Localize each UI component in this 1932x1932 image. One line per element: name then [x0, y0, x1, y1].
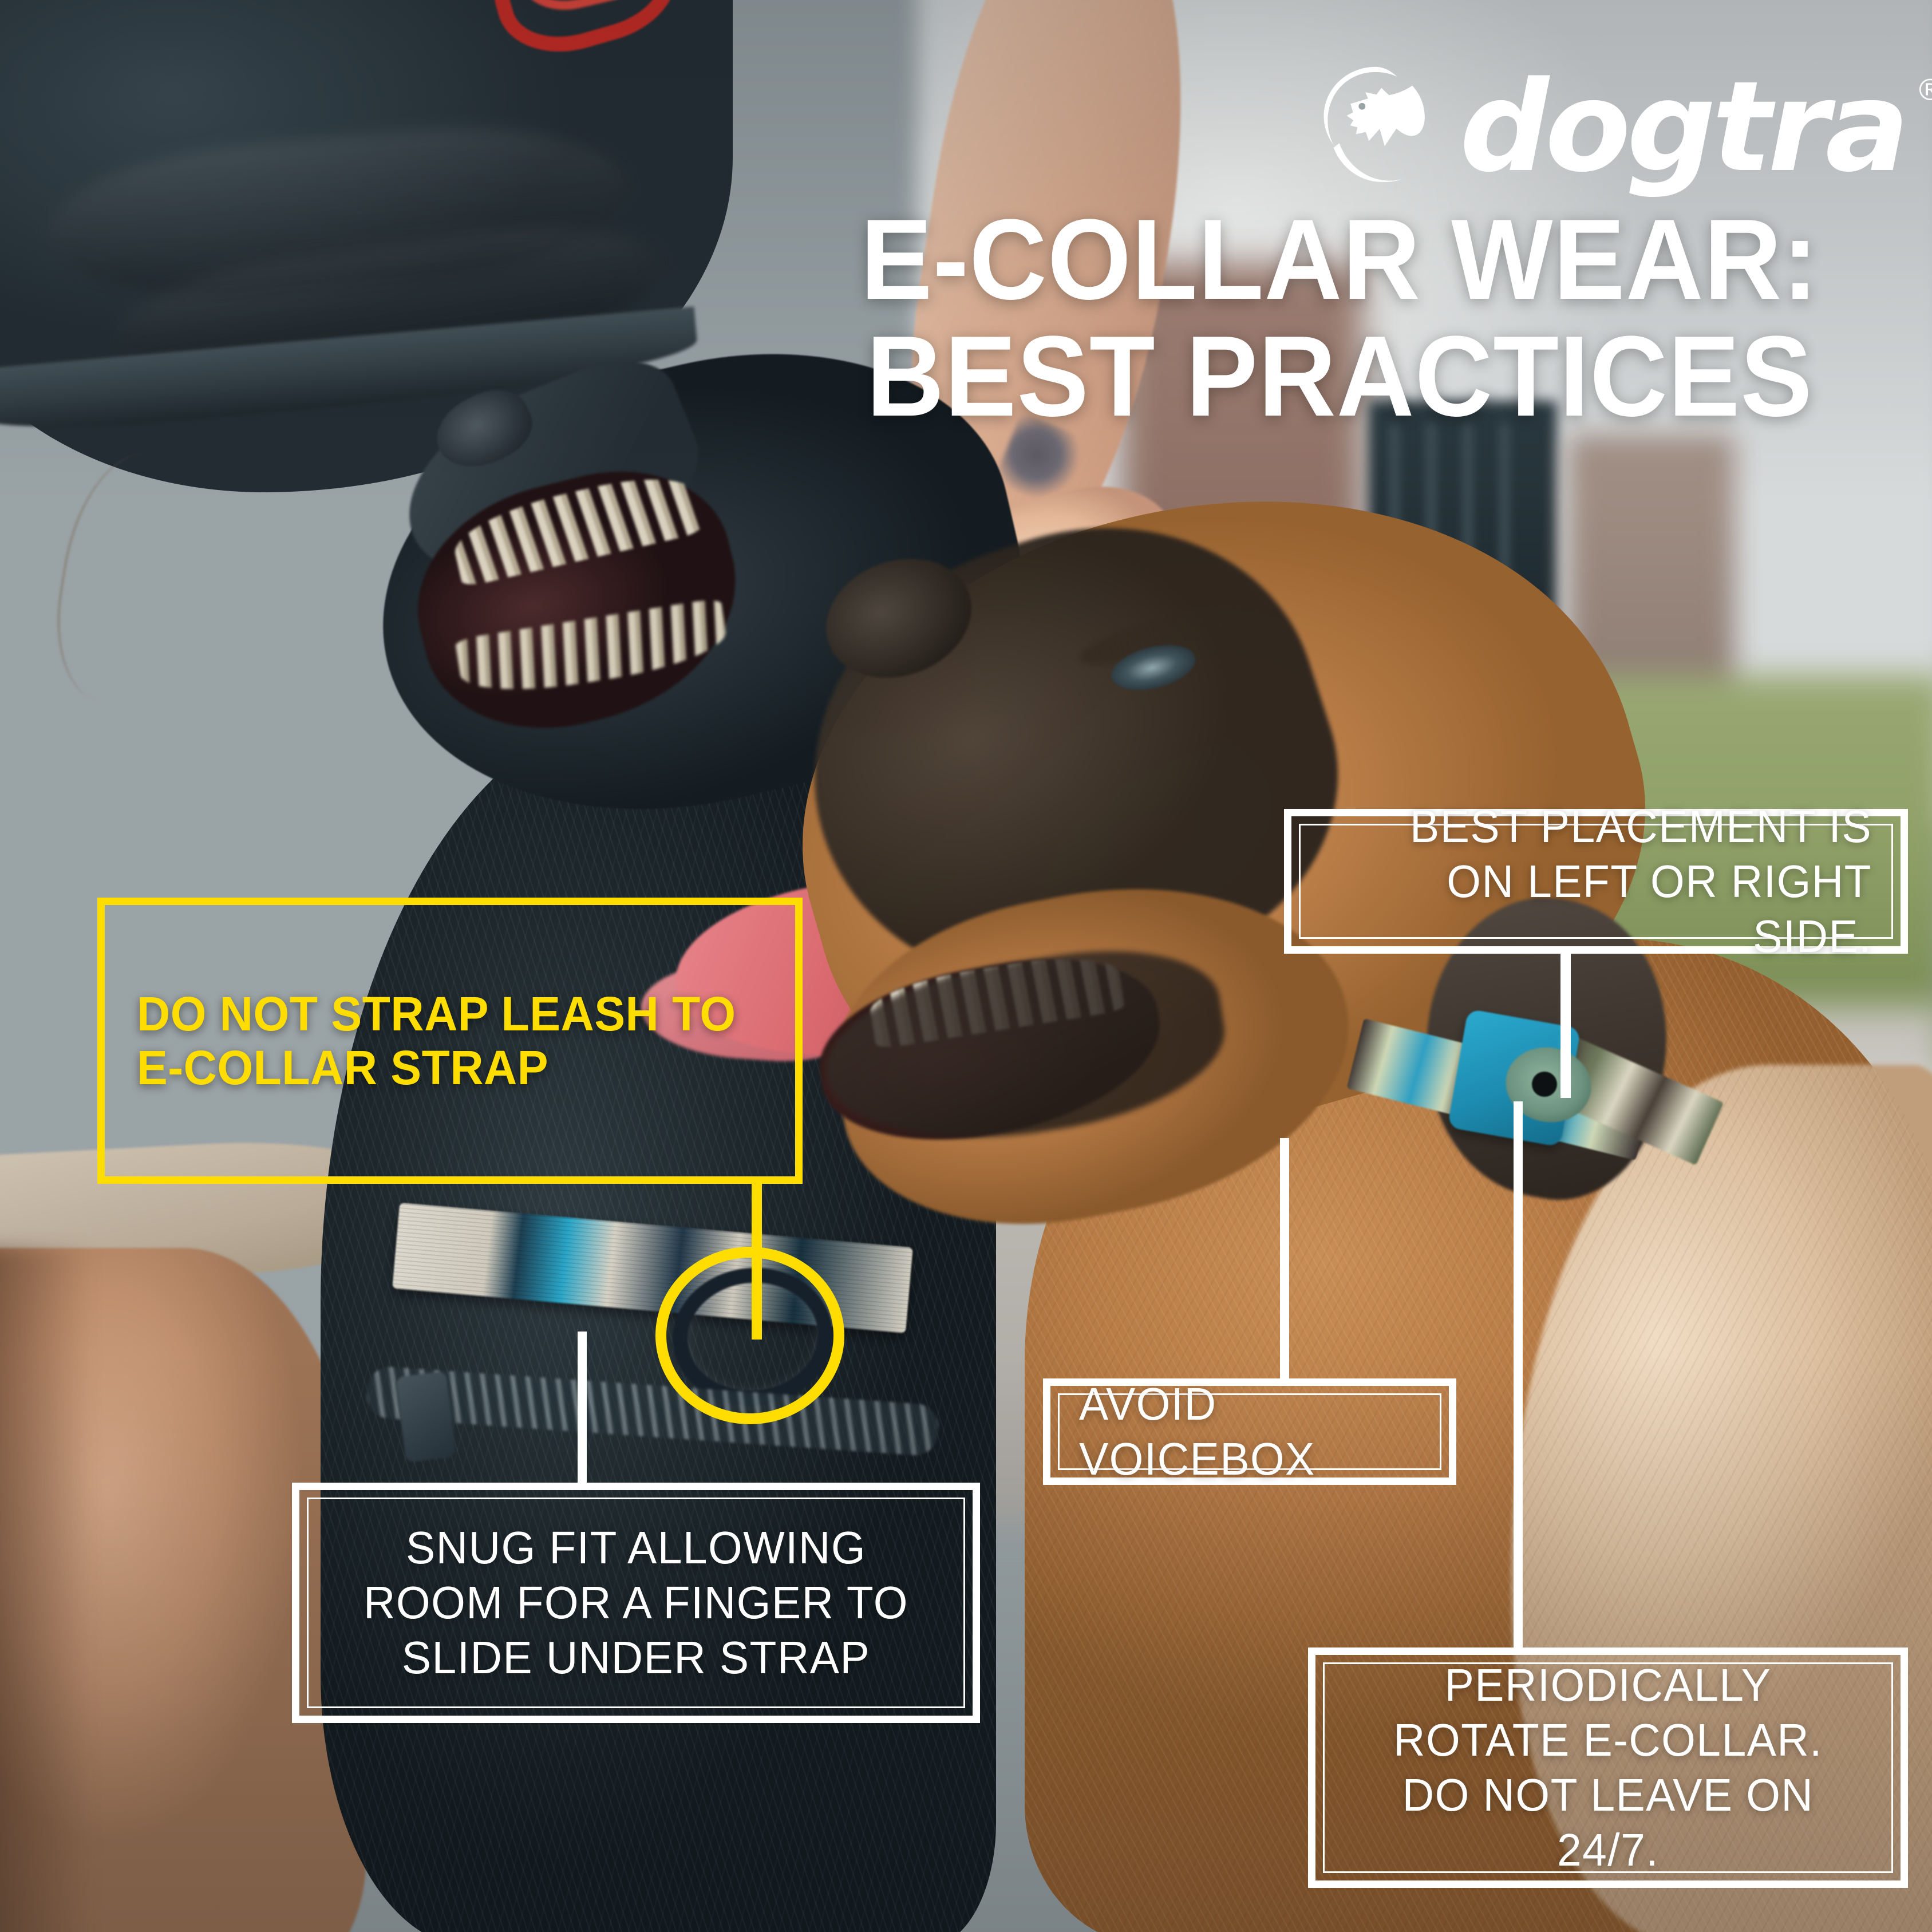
dogtra-dog-head-logo-icon — [1311, 63, 1440, 192]
callout-inner-frame: AVOID VOICEBOX — [1058, 1393, 1441, 1470]
connector-line-periodically-rotate — [1514, 1101, 1523, 1650]
infographic-overlay: dogtra® E-COLLAR WEAR: BEST PRACTICES DO… — [0, 0, 1932, 1932]
infographic-canvas: dogtra® E-COLLAR WEAR: BEST PRACTICES DO… — [0, 0, 1932, 1932]
connector-line-snug-fit — [578, 1332, 587, 1485]
dogtra-wordmark: dogtra® — [1460, 74, 1906, 180]
highlight-circle-collar-d-ring — [655, 1247, 844, 1424]
connector-line-avoid-voicebox — [1280, 1138, 1289, 1381]
callout-periodically-rotate: PERIODICALLY ROTATE E-COLLAR. DO NOT LEA… — [1308, 1647, 1908, 1888]
callout-text-do-not-strap-leash: DO NOT STRAP LEASH TO E-COLLAR STRAP — [137, 987, 738, 1095]
callout-inner-frame: DO NOT STRAP LEASH TO E-COLLAR STRAP — [112, 912, 788, 1169]
connector-line-best-placement — [1560, 950, 1571, 1098]
callout-inner-frame: PERIODICALLY ROTATE E-COLLAR. DO NOT LEA… — [1323, 1662, 1893, 1873]
title-line-1: E-COLLAR WEAR: — [860, 196, 1819, 323]
callout-text-periodically-rotate: PERIODICALLY ROTATE E-COLLAR. DO NOT LEA… — [1354, 1658, 1861, 1878]
callout-text-snug-fit: SNUG FIT ALLOWING ROOM FOR A FINGER TO S… — [341, 1520, 932, 1685]
callout-inner-frame: SNUG FIT ALLOWING ROOM FOR A FINGER TO S… — [307, 1498, 965, 1708]
title-line-2: BEST PRACTICES — [866, 313, 1812, 440]
callout-snug-fit: SNUG FIT ALLOWING ROOM FOR A FINGER TO S… — [292, 1483, 980, 1723]
callout-text-avoid-voicebox: AVOID VOICEBOX — [1079, 1377, 1406, 1487]
registered-trademark-icon: ® — [1915, 78, 1932, 103]
brand-name: dogtra — [1460, 55, 1906, 200]
callout-do-not-strap-leash: DO NOT STRAP LEASH TO E-COLLAR STRAP — [97, 898, 803, 1184]
callout-inner-frame: BEST PLACEMENT IS ON LEFT OR RIGHT SIDE. — [1299, 824, 1893, 939]
callout-text-best-placement: BEST PLACEMENT IS ON LEFT OR RIGHT SIDE. — [1342, 799, 1872, 964]
page-title: E-COLLAR WEAR: BEST PRACTICES — [823, 202, 1856, 435]
callout-best-placement: BEST PLACEMENT IS ON LEFT OR RIGHT SIDE. — [1284, 809, 1908, 954]
dogtra-logo: dogtra® — [1311, 63, 1906, 192]
callout-avoid-voicebox: AVOID VOICEBOX — [1043, 1378, 1456, 1485]
